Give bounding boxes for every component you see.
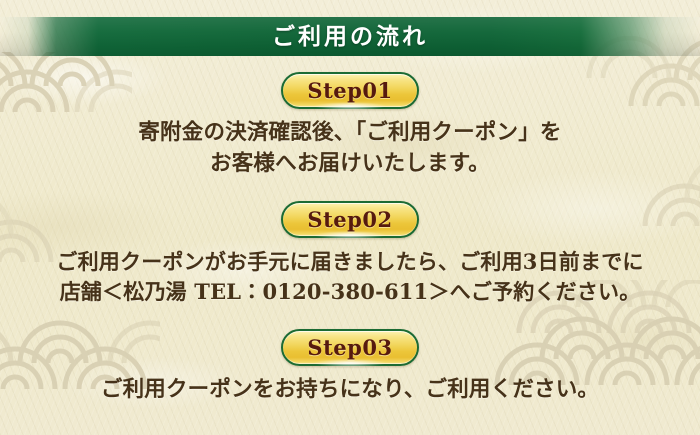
step-item: Step03 ご利用クーポンをお持ちになり、ご利用ください。	[0, 329, 700, 406]
step-description-01: 寄附金の決済確認後、「ご利用クーポン」を お客様へお届けいたします。	[138, 118, 561, 179]
step-description-line: ご利用クーポンがお手元に届きましたら、ご利用3日前までに	[56, 247, 643, 277]
step-description-line: ご利用クーポンをお持ちになり、ご利用ください。	[101, 375, 599, 406]
step-description-line: 寄附金の決済確認後、「ご利用クーポン」を	[138, 118, 561, 149]
steps-list: Step01 寄附金の決済確認後、「ご利用クーポン」を お客様へお届けいたします…	[0, 56, 700, 405]
page-title: ご利用の流れ	[272, 25, 428, 48]
section-header-banner: ご利用の流れ	[0, 17, 700, 56]
step-description-03: ご利用クーポンをお持ちになり、ご利用ください。	[101, 375, 599, 406]
step-description-02: ご利用クーポンがお手元に届きましたら、ご利用3日前までに 店舗＜松乃湯 TEL：…	[56, 247, 643, 307]
step-description-line-with-phone: 店舗＜松乃湯 TEL：0120-380-611＞へご予約ください。	[56, 277, 643, 307]
usage-flow-panel: ご利用の流れ Step01 寄附金の決済確認後、「ご利用クーポン」を お客様へお…	[0, 0, 700, 435]
step-item: Step01 寄附金の決済確認後、「ご利用クーポン」を お客様へお届けいたします…	[0, 72, 700, 179]
step-badge-03: Step03	[281, 329, 419, 366]
step-description-line: お客様へお届けいたします。	[138, 149, 561, 180]
step-badge-01: Step01	[281, 72, 419, 109]
step-badge-02: Step02	[281, 201, 419, 238]
step-badge-label: Step01	[307, 80, 392, 101]
step-badge-label: Step03	[307, 337, 392, 358]
step-item: Step02 ご利用クーポンがお手元に届きましたら、ご利用3日前までに 店舗＜松…	[0, 201, 700, 307]
step-badge-label: Step02	[307, 209, 392, 230]
